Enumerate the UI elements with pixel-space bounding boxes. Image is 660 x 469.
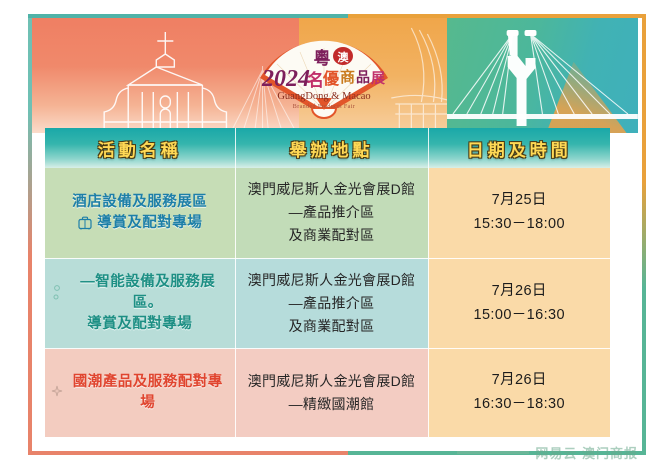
- macau-bridge-icon: [447, 18, 638, 133]
- venue-line3: 及商業配對區: [289, 227, 375, 243]
- logo-char-pin: 品: [356, 70, 370, 86]
- table-row: 酒店設備及服務展區 導賞及配對專場: [45, 168, 610, 258]
- venue-line3: 及商業配對區: [289, 318, 375, 334]
- event-time: 16:30－18:30: [435, 394, 605, 415]
- cell-datetime: 7月26日 16:30－18:30: [428, 349, 610, 437]
- activity-name-line2: 導賞及配對專場: [97, 213, 202, 234]
- cell-datetime: 7月25日 15:30－18:00: [428, 168, 610, 258]
- cell-activity-name: —智能設備及服務展區。 導賞及配對專場: [45, 258, 235, 349]
- venue-line2: —產品推介區: [289, 295, 375, 311]
- activity-name-line1: 國潮產品及服務配對專場: [67, 372, 229, 414]
- table-header-row: 活動名稱 舉辦地點 日期及時間: [45, 128, 610, 168]
- cell-venue: 澳門威尼斯人金光會展D館 —產品推介區 及商業配對區: [235, 258, 428, 349]
- venue-line1: 澳門威尼斯人金光會展D館: [248, 272, 416, 288]
- column-header-activity-name: 活動名稱: [45, 128, 235, 168]
- cell-datetime: 7月26日 15:00－16:30: [428, 258, 610, 349]
- watermark-text: 网易云 澳门商报: [535, 443, 638, 462]
- logo-char-you: 優: [322, 69, 340, 88]
- venue-line1: 澳門威尼斯人金光會展D館: [248, 181, 416, 197]
- event-date: 7月26日: [435, 370, 605, 391]
- frame-border-bottom-left: [28, 451, 348, 455]
- column-header-datetime: 日期及時間: [428, 128, 610, 168]
- event-time: 15:30－18:00: [435, 214, 605, 235]
- table-row: 國潮產品及服務配對專場 澳門威尼斯人金光會展D館 —精緻國潮館 7月26日 16…: [45, 349, 610, 437]
- logo-english-line2: Branded Products Fair: [293, 104, 355, 110]
- column-header-venue: 舉辦地點: [235, 128, 428, 168]
- logo-year: 2024: [261, 66, 310, 92]
- logo-char-ao: 澳: [338, 50, 350, 64]
- cell-activity-name: 國潮產品及服務配對專場: [45, 349, 235, 437]
- hero-panel-bridge: [447, 18, 638, 133]
- schedule-table: 活動名稱 舉辦地點 日期及時間 酒店設備及服務展區: [45, 128, 610, 437]
- logo-char-shang: 商: [340, 68, 355, 86]
- fan-logo-icon: 粵 澳 2024 名 優 商 品 展 GuangDong & Macao Bra…: [244, 20, 404, 120]
- logo-char-zhan: 展: [371, 71, 385, 87]
- cell-venue: 澳門威尼斯人金光會展D館 —精緻國潮館: [235, 349, 428, 437]
- venue-line2: —產品推介區: [289, 204, 375, 220]
- activity-name-line1: —智能設備及服務展區。: [67, 272, 229, 314]
- cell-activity-name: 酒店設備及服務展區 導賞及配對專場: [45, 168, 235, 258]
- suitcase-icon: [77, 216, 93, 230]
- venue-line2: —精緻國潮館: [289, 396, 375, 412]
- logo-char-ming: 名: [307, 70, 324, 91]
- event-time: 15:00－16:30: [435, 305, 605, 326]
- logo-english-line1: GuangDong & Macao: [277, 91, 370, 102]
- activity-name-line1: 酒店設備及服務展區: [51, 192, 229, 213]
- event-date: 7月25日: [435, 190, 605, 211]
- event-date: 7月26日: [435, 281, 605, 302]
- frame-border-right: [642, 14, 646, 455]
- activity-name-line2: 導賞及配對專場: [51, 314, 229, 335]
- watermark: 网易云 澳门商报: [457, 443, 638, 462]
- venue-line1: 澳門威尼斯人金光會展D館: [248, 373, 416, 389]
- poster-root: 粵 澳 2024 名 優 商 品 展 GuangDong & Macao Bra…: [0, 0, 660, 469]
- watermark-rule: [457, 451, 529, 454]
- gear-sparkle-icon: [51, 283, 63, 303]
- table-row: —智能設備及服務展區。 導賞及配對專場 澳門威尼斯人金光會展D館 —產品推介區 …: [45, 258, 610, 349]
- cell-venue: 澳門威尼斯人金光會展D館 —產品推介區 及商業配對區: [235, 168, 428, 258]
- sparkle-icon: [51, 385, 63, 401]
- logo-char-yue: 粵: [314, 48, 331, 69]
- fair-logo: 粵 澳 2024 名 優 商 品 展 GuangDong & Macao Bra…: [244, 20, 404, 120]
